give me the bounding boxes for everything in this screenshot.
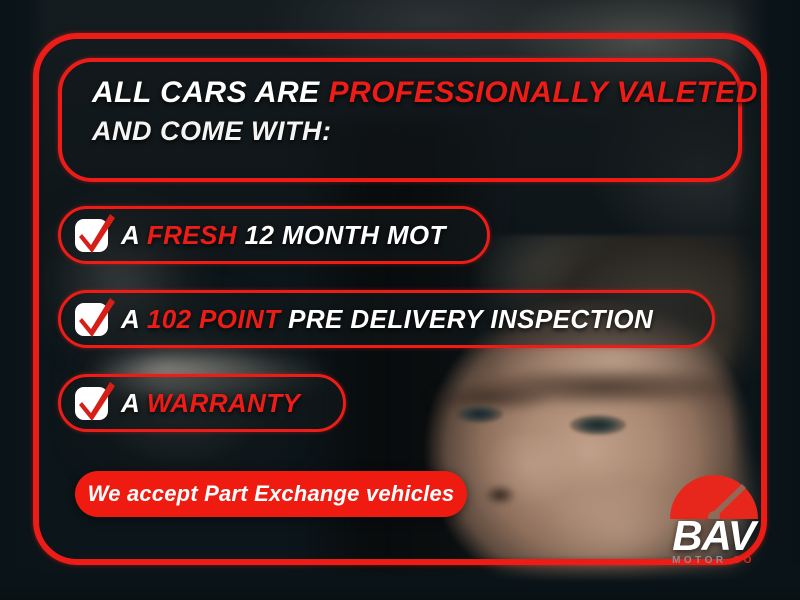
checklist-item-warranty-prefix: A [121,388,147,418]
headline-panel: ALL CARS ARE PROFESSIONALLY VALETED AND … [58,58,742,182]
checklist-item-mot-prefix: A [121,220,147,250]
logo-subtitle-motor: MOTOR [672,555,733,566]
checklist-item-mot-label: A FRESH 12 MONTH MOT [121,220,446,251]
checklist-item-inspection-highlight: 102 POINT [147,304,281,334]
checklist-item-inspection-prefix: A [121,304,147,334]
promo-content: ALL CARS ARE PROFESSIONALLY VALETED AND … [33,33,767,565]
checklist-item-mot-suffix: 12 MONTH MOT [237,220,446,250]
checkbox-checked-icon [75,303,108,336]
logo-subtitle: MOTOR CO [656,555,771,566]
headline-line-1-emphasis: PROFESSIONALLY VALETED [329,76,758,109]
checklist-item-inspection-suffix: PRE DELIVERY INSPECTION [281,304,654,334]
checkbox-checked-icon [75,219,108,252]
checklist-item-warranty-highlight: WARRANTY [147,388,300,418]
bav-motor-co-logo: BAV MOTOR CO [656,473,771,583]
checklist-item-warranty: A WARRANTY [58,374,346,432]
checklist-item-inspection: A 102 POINT PRE DELIVERY INSPECTION [58,290,715,348]
checklist-item-inspection-label: A 102 POINT PRE DELIVERY INSPECTION [121,304,653,335]
headline-line-1: ALL CARS ARE PROFESSIONALLY VALETED [92,78,738,109]
checkbox-checked-icon [75,387,108,420]
logo-subtitle-co: CO [733,555,755,566]
headline-line-2: AND COME WITH: [92,118,738,146]
headline-line-1-plain: ALL CARS ARE [92,76,329,109]
part-exchange-label: We accept Part Exchange vehicles [88,481,455,507]
part-exchange-badge: We accept Part Exchange vehicles [75,471,467,517]
checklist-item-warranty-label: A WARRANTY [121,388,300,419]
logo-wordmark: BAV [656,515,771,557]
checklist-item-mot: A FRESH 12 MONTH MOT [58,206,490,264]
checklist-item-mot-highlight: FRESH [147,220,237,250]
